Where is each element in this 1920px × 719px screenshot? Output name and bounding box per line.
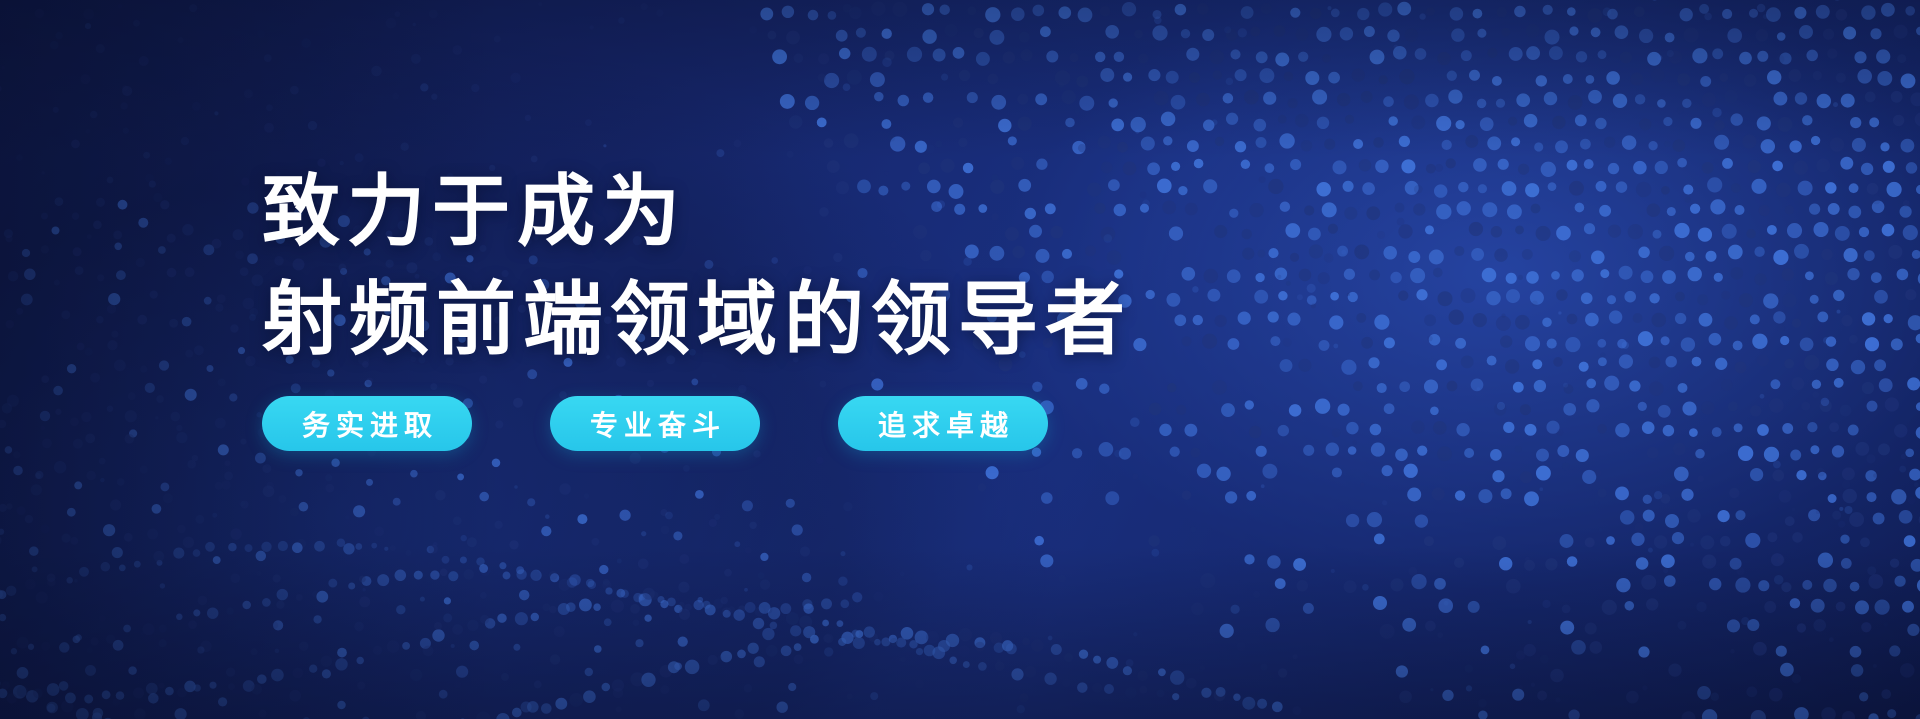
tag-pill-3[interactable]: 追求卓越 xyxy=(838,396,1048,451)
banner-content: 致力于成为 射频前端领域的领导者 务实进取 专业奋斗 追求卓越 xyxy=(262,172,1462,451)
tag-pill-2[interactable]: 专业奋斗 xyxy=(550,396,760,451)
tag-pill-1[interactable]: 务实进取 xyxy=(262,396,472,451)
tagline-pill-row: 务实进取 专业奋斗 追求卓越 xyxy=(262,396,1462,451)
headline-line-2: 射频前端领域的领导者 xyxy=(262,280,1462,360)
hero-banner: 致力于成为 射频前端领域的领导者 务实进取 专业奋斗 追求卓越 xyxy=(0,0,1920,719)
headline-line-1: 致力于成为 xyxy=(262,172,1462,250)
